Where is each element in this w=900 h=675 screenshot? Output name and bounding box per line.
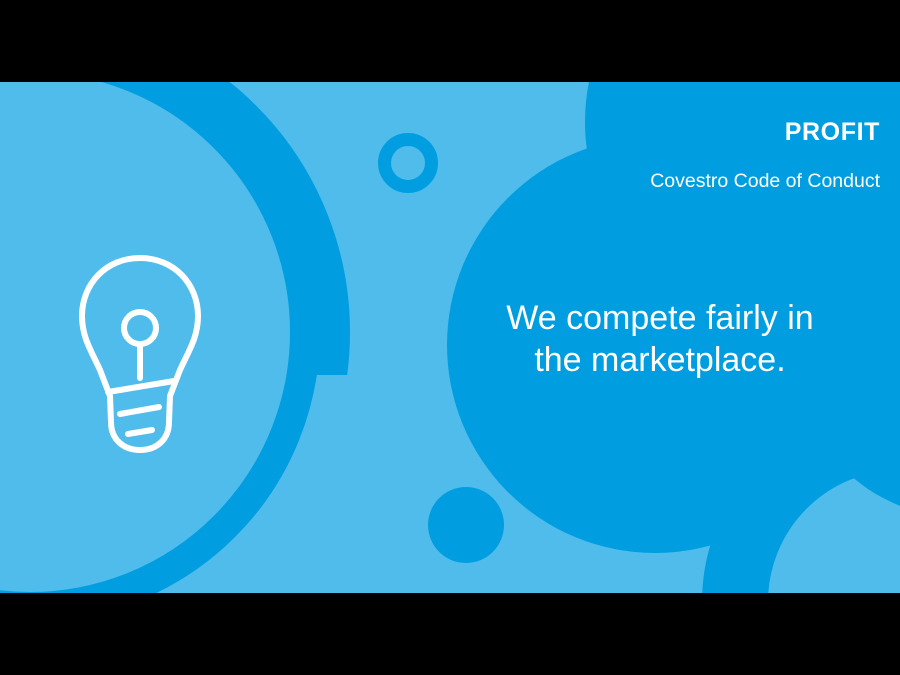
text-block: PROFIT Covestro Code of Conduct We compe… — [455, 82, 885, 593]
headline: We compete fairly in the marketplace. — [455, 297, 865, 381]
letterbox-bar-top — [0, 0, 900, 82]
bulb-base-line-1 — [108, 381, 174, 392]
headline-line-2: the marketplace. — [534, 341, 785, 379]
bulb-base-line-3 — [128, 430, 152, 434]
slide-frame: PROFIT Covestro Code of Conduct We compe… — [0, 0, 900, 675]
headline-line-1: We compete fairly in — [506, 299, 813, 337]
lightbulb-icon — [70, 250, 210, 460]
slide-canvas: PROFIT Covestro Code of Conduct We compe… — [0, 82, 900, 593]
document-subtitle: Covestro Code of Conduct — [650, 170, 880, 193]
bulb-base-line-2 — [120, 407, 159, 414]
page-title: PROFIT — [785, 119, 880, 147]
bulb-filament-loop — [124, 312, 156, 344]
letterbox-bar-bottom — [0, 593, 900, 675]
